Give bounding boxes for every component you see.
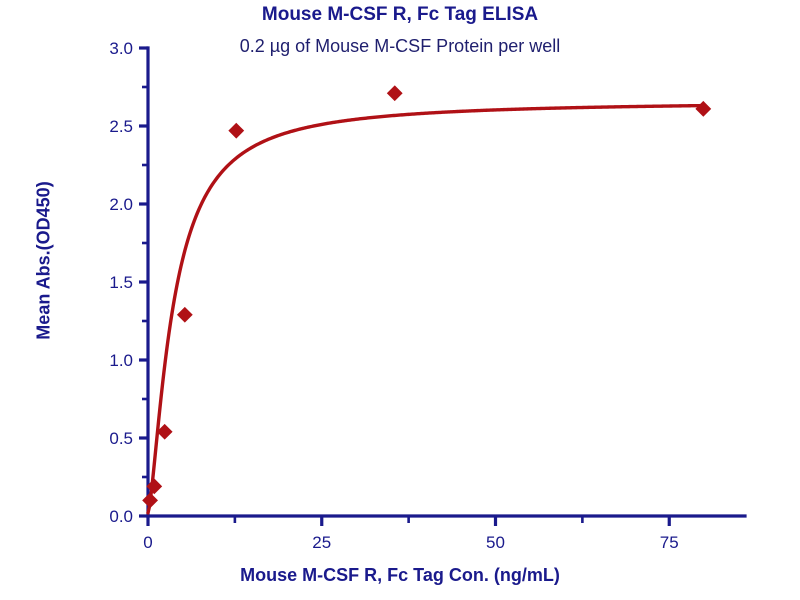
y-axis-tick-label: 1.0 xyxy=(109,351,133,370)
data-point-marker xyxy=(178,308,192,322)
y-axis-tick-label: 1.5 xyxy=(109,273,133,292)
data-point-marker xyxy=(388,86,402,100)
y-axis-tick-label: 2.5 xyxy=(109,117,133,136)
elisa-chart: Mouse M-CSF R, Fc Tag ELISA 0.2 µg of Mo… xyxy=(0,0,800,600)
x-axis-tick-label: 50 xyxy=(486,533,505,552)
y-axis-tick-label: 0.0 xyxy=(109,507,133,526)
data-point-marker xyxy=(696,102,710,116)
x-axis-tick-label: 25 xyxy=(312,533,331,552)
x-axis-tick-label: 75 xyxy=(660,533,679,552)
plot-area: 0.00.51.01.52.02.53.00255075 xyxy=(0,0,800,600)
x-axis-tick-label: 0 xyxy=(143,533,152,552)
data-point-marker xyxy=(143,493,157,507)
y-axis-tick-label: 3.0 xyxy=(109,39,133,58)
data-point-marker xyxy=(229,123,243,137)
y-axis-tick-label: 0.5 xyxy=(109,429,133,448)
y-axis-tick-label: 2.0 xyxy=(109,195,133,214)
fit-curve xyxy=(148,106,703,513)
